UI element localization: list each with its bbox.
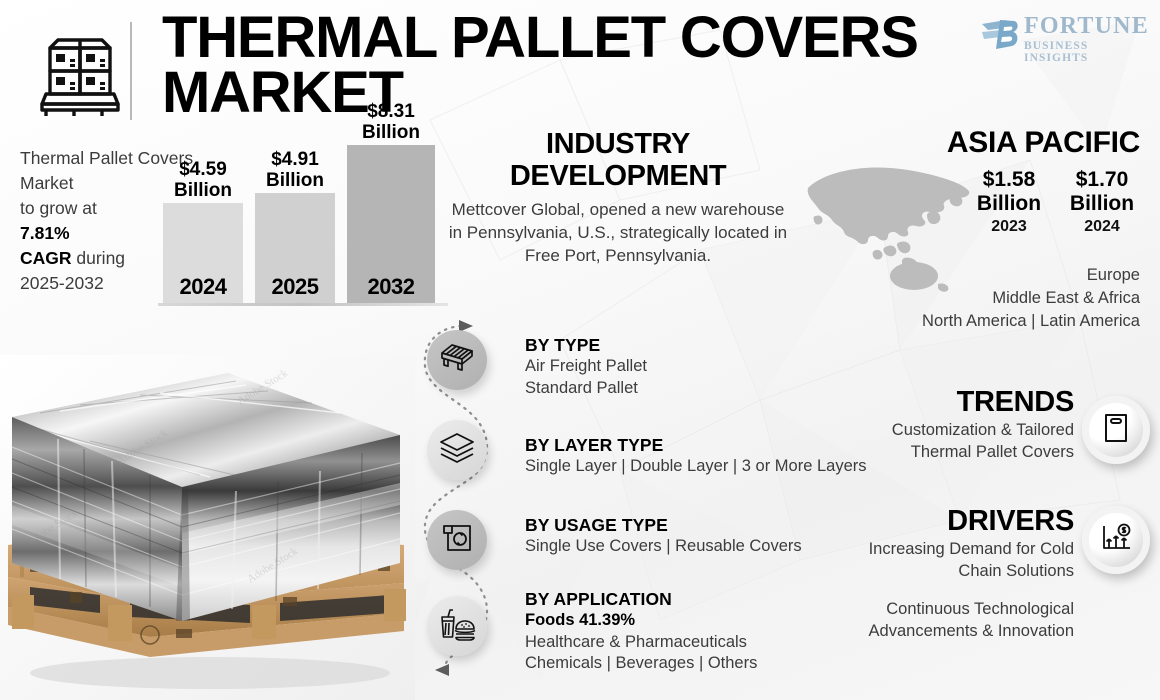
segmentation-item-by-usage-type: BY USAGE TYPE Single Use Covers | Reusab… [525,514,875,558]
chart-bar-2032: $8.31 Billion 2032 [347,145,435,303]
apac-year-2024: 2024 [1058,218,1146,236]
food-burger-drink-icon [438,606,476,647]
segment-heading-by-layer-type: BY LAYER TYPE [525,434,875,456]
drivers-line-1: Increasing Demand for Cold [844,538,1074,560]
bar-unit-2024: Billion [174,180,232,201]
segment-line-by-type-2: Standard Pallet [525,378,875,400]
bar-amount-2025: $4.91 [271,149,319,170]
pallet-boxes-icon [28,26,124,118]
segment-line-by-layer-type-1: Single Layer | Double Layer | 3 or More … [525,456,875,478]
segmentation-icon-by-usage-type[interactable] [427,510,487,570]
drivers-line-2: Chain Solutions [844,560,1074,582]
chart-bar-2025: $4.91 Billion 2025 [255,193,335,303]
chart-baseline [158,303,448,306]
layers-icon [438,431,476,470]
bar-value-2025: $4.91 Billion [266,149,324,191]
region-mea: Middle East & Africa [922,287,1140,310]
segment-line-by-application-1: Foods 41.39% [525,610,875,632]
bar-amount-2032: $8.31 [367,101,415,122]
segment-line-by-application-2: Healthcare & Pharmaceuticals [525,632,875,654]
pallet-3d-icon [438,341,476,380]
apac-value-2024: $1.70 Billion [1058,168,1146,216]
segmentation-icon-by-application[interactable] [427,596,487,656]
bar-unit-2025: Billion [266,170,324,191]
industry-title-line2: DEVELOPMENT [510,160,726,192]
segmentation-section: BY TYPE Air Freight Pallet Standard Pall… [415,312,875,682]
drivers-extra-line-2: Advancements & Innovation [844,620,1074,642]
industry-development-body: Mettcover Global, opened a new warehouse… [448,198,788,267]
fortune-business-insights-logo[interactable]: FORTUNE BUSINESS INSIGHTS [980,14,1150,62]
segmentation-item-by-type: BY TYPE Air Freight Pallet Standard Pall… [525,334,875,399]
header-divider [130,22,132,120]
trends-drivers-section: TRENDS Customization & Tailored Thermal … [840,380,1160,680]
industry-development-section: INDUSTRY DEVELOPMENT Mettcover Global, o… [448,128,788,267]
apac-year-2023: 2023 [965,218,1053,236]
cagr-label: CAGR [20,248,72,268]
asia-pacific-region-list: Europe Middle East & Africa North Americ… [922,264,1140,333]
apac-value-2023: $1.58 Billion [965,168,1053,216]
drivers-block: DRIVERS Increasing Demand for Cold Chain… [844,505,1074,582]
bar-value-2032: $8.31 Billion [362,101,420,143]
page-title: THERMAL PALLET COVERS MARKET [162,10,952,120]
bar-year-2032: 2032 [368,274,415,300]
segmentation-item-by-application: BY APPLICATION Foods 41.39% Healthcare &… [525,588,875,675]
logo-secondary-text: BUSINESS INSIGHTS [1024,41,1150,64]
bar-year-2025: 2025 [272,274,319,300]
region-europe: Europe [922,264,1140,287]
bar-value-2024: $4.59 Billion [174,159,232,201]
industry-title-line1: INDUSTRY [546,128,690,160]
segmentation-item-by-layer-type: BY LAYER TYPE Single Layer | Double Laye… [525,434,875,478]
drivers-extra-text: Continuous Technological Advancements & … [844,598,1074,642]
segment-heading-by-type: BY TYPE [525,334,875,356]
segment-line-by-type-1: Air Freight Pallet [525,356,875,378]
trends-line-1: Customization & Tailored [844,419,1074,441]
drivers-title: DRIVERS [844,505,1074,538]
asia-pacific-section: ASIA PACIFIC $1 [790,126,1160,341]
segmentation-icon-by-layer-type[interactable] [427,420,487,480]
bar-unit-2032: Billion [362,122,420,143]
fb-monogram-icon [980,18,1020,52]
segment-line-by-usage-type-1: Single Use Covers | Reusable Covers [525,536,875,558]
logo-primary-text: FORTUNE [1024,14,1150,38]
bar-year-2024: 2024 [180,274,227,300]
segment-heading-by-application: BY APPLICATION [525,588,875,610]
cagr-during: during [72,248,126,268]
bar-amount-2024: $4.59 [179,159,227,180]
container-box-icon [1103,413,1129,448]
reusable-roll-icon [439,520,475,561]
industry-development-title: INDUSTRY DEVELOPMENT [448,128,788,192]
drivers-extra-line-1: Continuous Technological [844,598,1074,620]
asia-pacific-figure-2023: $1.58 Billion 2023 [965,168,1053,236]
chart-bar-2024: $4.59 Billion 2024 [163,203,243,303]
segment-heading-by-usage-type: BY USAGE TYPE [525,514,875,536]
trends-line-2: Thermal Pallet Covers [844,441,1074,463]
trends-block: TRENDS Customization & Tailored Thermal … [844,386,1074,463]
region-americas: North America | Latin America [922,310,1140,333]
asia-pacific-figure-2024: $1.70 Billion 2024 [1058,168,1146,236]
logo-text: FORTUNE BUSINESS INSIGHTS [1024,14,1150,64]
trends-icon-badge[interactable] [1082,396,1150,464]
segmentation-icon-by-type[interactable] [427,330,487,390]
drivers-icon-badge[interactable] [1082,506,1150,574]
infographic-canvas: THERMAL PALLET COVERS MARKET FORTUNE BUS… [0,0,1160,700]
asia-pacific-title: ASIA PACIFIC [947,126,1140,160]
market-size-bar-chart: $4.59 Billion 2024 $4.91 Billion 2025 $8… [155,135,450,310]
trends-title: TRENDS [844,386,1074,419]
growth-chart-dollar-icon [1100,523,1132,558]
cagr-rate: 7.81% [20,223,70,243]
header: THERMAL PALLET COVERS MARKET FORTUNE BUS… [0,0,1160,128]
page-title-line2: MARKET [162,65,952,120]
segment-line-by-application-3: Chemicals | Beverages | Others [525,653,875,675]
pallet-photo: Adobe Stock Adobe Stock Adobe Stock Adob… [0,355,415,700]
